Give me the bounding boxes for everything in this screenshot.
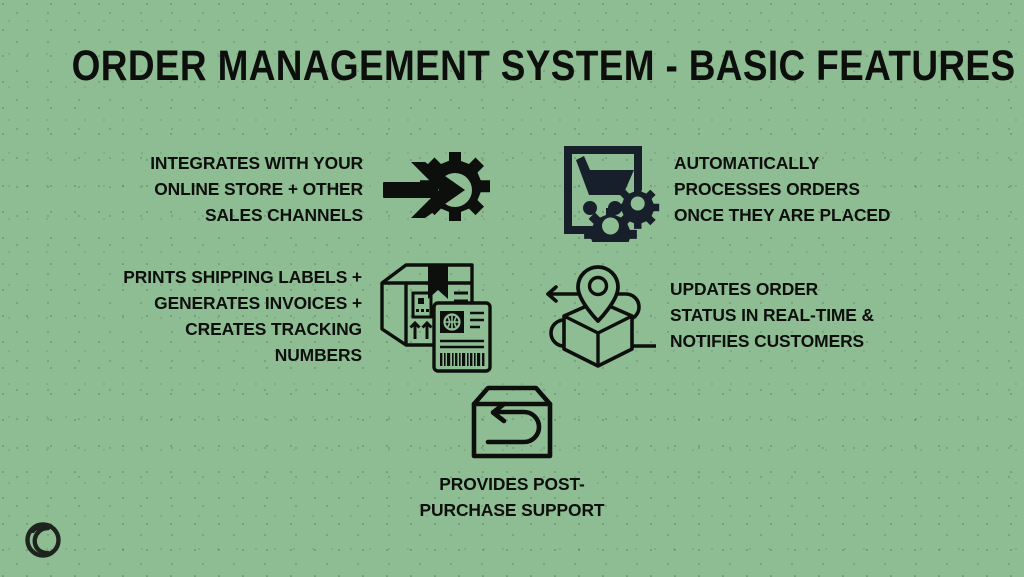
circular-monogram-logo <box>18 517 64 563</box>
box-return-arrow-icon <box>464 382 560 462</box>
feature-order-tracking: UPDATES ORDER STATUS IN REAL-TIME & NOTI… <box>540 256 970 376</box>
feature-labels-invoices-label: PRINTS SHIPPING LABELS + GENERATES INVOI… <box>82 265 362 369</box>
arrow-into-gear-icon <box>379 142 491 238</box>
package-shipping-label-icon <box>376 257 494 377</box>
feature-auto-process: AUTOMATICALLY PROCESSES ORDERS ONCE THEY… <box>556 134 976 246</box>
page-title: ORDER MANAGEMENT SYSTEM - BASIC FEATURES <box>72 44 953 89</box>
slide-canvas: ORDER MANAGEMENT SYSTEM - BASIC FEATURES… <box>0 0 1024 577</box>
feature-post-purchase-support-label: PROVIDES POST- PURCHASE SUPPORT <box>367 472 657 524</box>
feature-auto-process-label: AUTOMATICALLY PROCESSES ORDERS ONCE THEY… <box>674 151 890 229</box>
feature-integrations-label: INTEGRATES WITH YOUR ONLINE STORE + OTHE… <box>76 151 363 229</box>
feature-order-tracking-label: UPDATES ORDER STATUS IN REAL-TIME & NOTI… <box>670 277 874 355</box>
feature-post-purchase-support: PROVIDES POST- PURCHASE SUPPORT <box>362 382 662 530</box>
feature-integrations: INTEGRATES WITH YOUR ONLINE STORE + OTHE… <box>76 138 491 242</box>
shopping-cart-gears-icon <box>556 138 660 242</box>
package-location-pin-icon <box>540 261 656 371</box>
feature-labels-invoices: PRINTS SHIPPING LABELS + GENERATES INVOI… <box>66 252 494 382</box>
